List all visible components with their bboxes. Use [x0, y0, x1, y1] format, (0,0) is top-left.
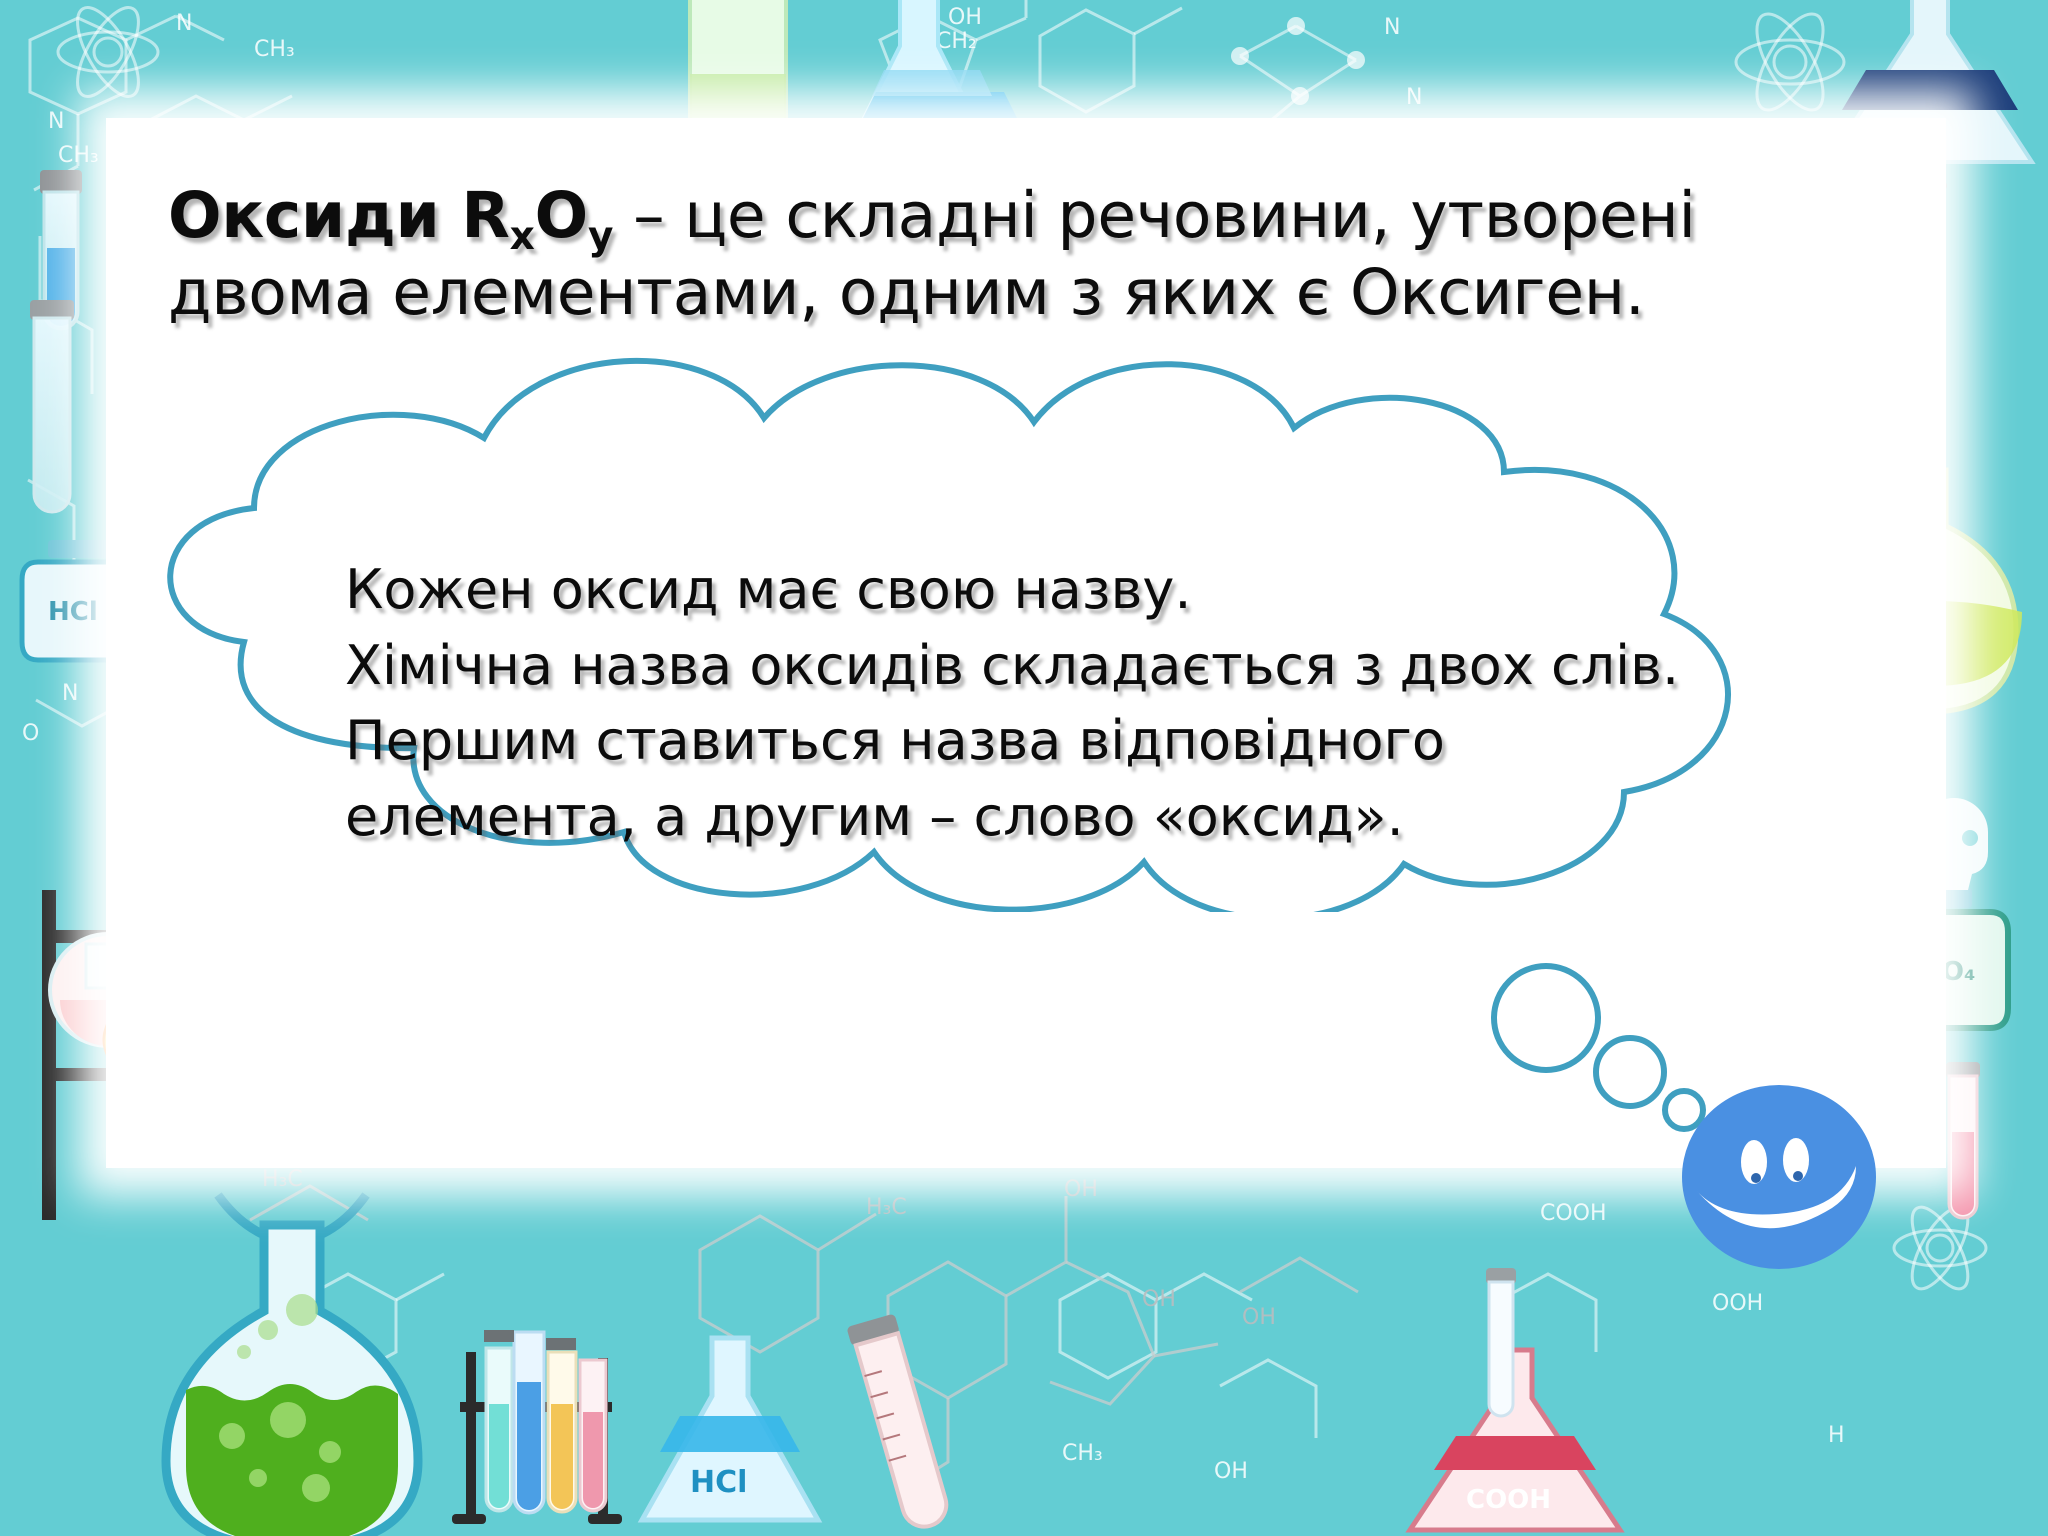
decor-test-tube-empty [30, 300, 74, 512]
decor-cooh-flask-bottom: COOH [1410, 1350, 1620, 1530]
decor-label-n-d: N [1406, 85, 1422, 110]
decor-label-h3c-b: H₃C [262, 1167, 303, 1192]
headline-sub-x: x [510, 214, 535, 259]
cloud-line-3: Першим ставиться назва відповідного [345, 703, 1595, 779]
headline-o: O [535, 179, 588, 252]
decor-label-cooh: COOH [1466, 1485, 1551, 1515]
thought-bubble-large [1494, 966, 1598, 1070]
slide-headline: Оксиди RxOy – це складні речовини, утвор… [168, 178, 1788, 332]
decor-label-hcl-bottom: HCl [690, 1465, 747, 1500]
decor-label-oh-d: OH [1142, 1287, 1176, 1312]
decor-hcl-flask-bottom: HCl [642, 1338, 818, 1520]
decor-label-n-c: N [1384, 15, 1400, 40]
decor-label-cooh-top: COOH [1540, 1201, 1607, 1226]
decor-test-tube-rack [452, 1330, 622, 1524]
cloud-line-4: елемента, а другим – слово «оксид». [345, 779, 1595, 855]
decor-thin-tube-leftbottom [1486, 1268, 1516, 1416]
decor-pink-graduated-tube-bottom [846, 1313, 953, 1532]
decor-green-flask [166, 1195, 418, 1536]
decor-label-hcl-left: HCl [48, 597, 98, 627]
decor-label-n-b: N [48, 109, 64, 134]
decor-test-tube-blue [40, 170, 82, 329]
decor-label-hc: H₃C [866, 1195, 907, 1220]
decor-label-h3c: H₃C [52, 625, 93, 650]
headline-sub-y: y [588, 214, 613, 259]
decor-label-h: H [1828, 1423, 1845, 1448]
decor-label-ch3-d: CH₃ [1062, 1441, 1103, 1466]
decor-label-ooh: OOH [1712, 1291, 1763, 1316]
headline-rest: – це складні речовини, утворені [613, 179, 1696, 252]
headline-line-1: Оксиди RxOy – це складні речовини, утвор… [168, 178, 1788, 255]
decor-label-n-e: N [62, 681, 78, 706]
decor-label-ch3-b: CH₃ [58, 143, 99, 168]
headline-line-2: двома елементами, одним з яких є Оксиген… [168, 255, 1788, 332]
decor-label-oh-b: OH [1214, 1459, 1248, 1484]
thought-bubble-medium [1596, 1038, 1664, 1106]
decor-label-ch3-a: CH₃ [254, 37, 295, 62]
cloud-line-2: Хімічна назва оксидів складається з двох… [345, 628, 1595, 704]
cloud-text-block: Кожен оксид має свою назву. Хімічна назв… [345, 552, 1595, 854]
decor-label-oh-c: OH [1064, 1177, 1098, 1202]
slide-canvas: N CH₃ N CH₃ OH CH₂ N N H₃C N O CH₃ CH₃ O… [0, 0, 2048, 1536]
decor-label-n: N [176, 11, 192, 36]
cloud-line-1: Кожен оксид має свою назву. [345, 552, 1595, 628]
decor-label-oh-e: OH [1242, 1305, 1276, 1330]
headline-term: Оксиди R [168, 179, 510, 252]
decor-label-ch3-c: CH₃ [268, 1459, 309, 1484]
decor-label-o: O [22, 721, 39, 746]
decor-red-tube-right [1946, 1062, 1980, 1218]
decor-label-oh-a: OH [948, 5, 982, 30]
smiley-face-icon [1680, 1082, 1878, 1272]
decor-label-ch2: CH₂ [936, 29, 977, 54]
